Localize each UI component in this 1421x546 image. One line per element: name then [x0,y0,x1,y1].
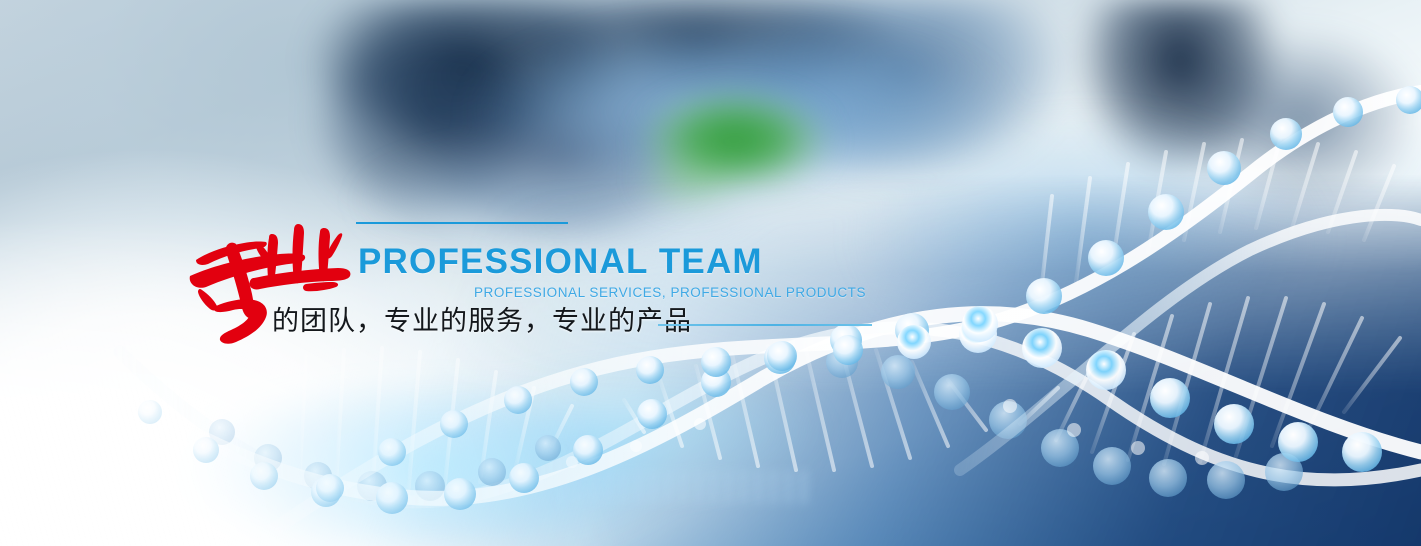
hero-banner: PROFESSIONAL TEAM PROFESSIONAL SERVICES,… [0,0,1421,546]
divider-rule-bottom [658,324,872,326]
divider-rule-top [356,222,568,224]
banner-subtitle: PROFESSIONAL SERVICES, PROFESSIONAL PROD… [474,285,866,301]
background-blurred-watermark [560,470,810,504]
calligraphy-zhuanye [186,214,354,350]
page-title: PROFESSIONAL TEAM [358,243,763,281]
banner-text-block: PROFESSIONAL TEAM PROFESSIONAL SERVICES,… [0,0,1421,546]
